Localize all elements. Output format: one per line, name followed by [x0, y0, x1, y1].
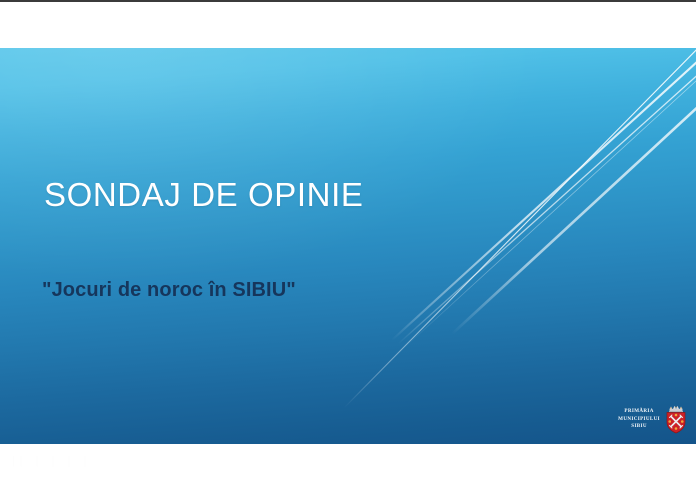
streak-line-1	[344, 48, 696, 408]
top-border-rule	[0, 0, 696, 2]
streak-line-3	[398, 62, 696, 344]
sibiu-coat-of-arms-icon	[665, 405, 687, 434]
slide-subtitle: "Jocuri de noroc în SIBIU"	[42, 278, 296, 302]
streak-line-5	[404, 70, 696, 348]
page-canvas: SONDAJ DE OPINIE "Jocuri de noroc în SIB…	[0, 0, 696, 492]
logo-wordmark: PRIMĂRIA MUNICIPIULUI SIBIU	[618, 408, 660, 430]
logo-line-municipiului: MUNICIPIULUI	[618, 416, 660, 423]
logo-line-sibiu: SIBIU	[631, 423, 647, 430]
slide-title: SONDAJ DE OPINIE	[44, 176, 364, 214]
streak-line-4	[452, 92, 696, 334]
organization-logo: PRIMĂRIA MUNICIPIULUI SIBIU	[618, 405, 687, 434]
bottom-faint-artifact-text: || | | | |	[12, 455, 91, 467]
streak-line-2	[392, 50, 696, 340]
logo-line-primaria: PRIMĂRIA	[624, 408, 653, 415]
crown-icon	[669, 406, 683, 413]
streak-group	[344, 48, 696, 408]
presentation-slide: SONDAJ DE OPINIE "Jocuri de noroc în SIB…	[0, 48, 696, 444]
diagonal-streak-lines	[0, 48, 696, 444]
